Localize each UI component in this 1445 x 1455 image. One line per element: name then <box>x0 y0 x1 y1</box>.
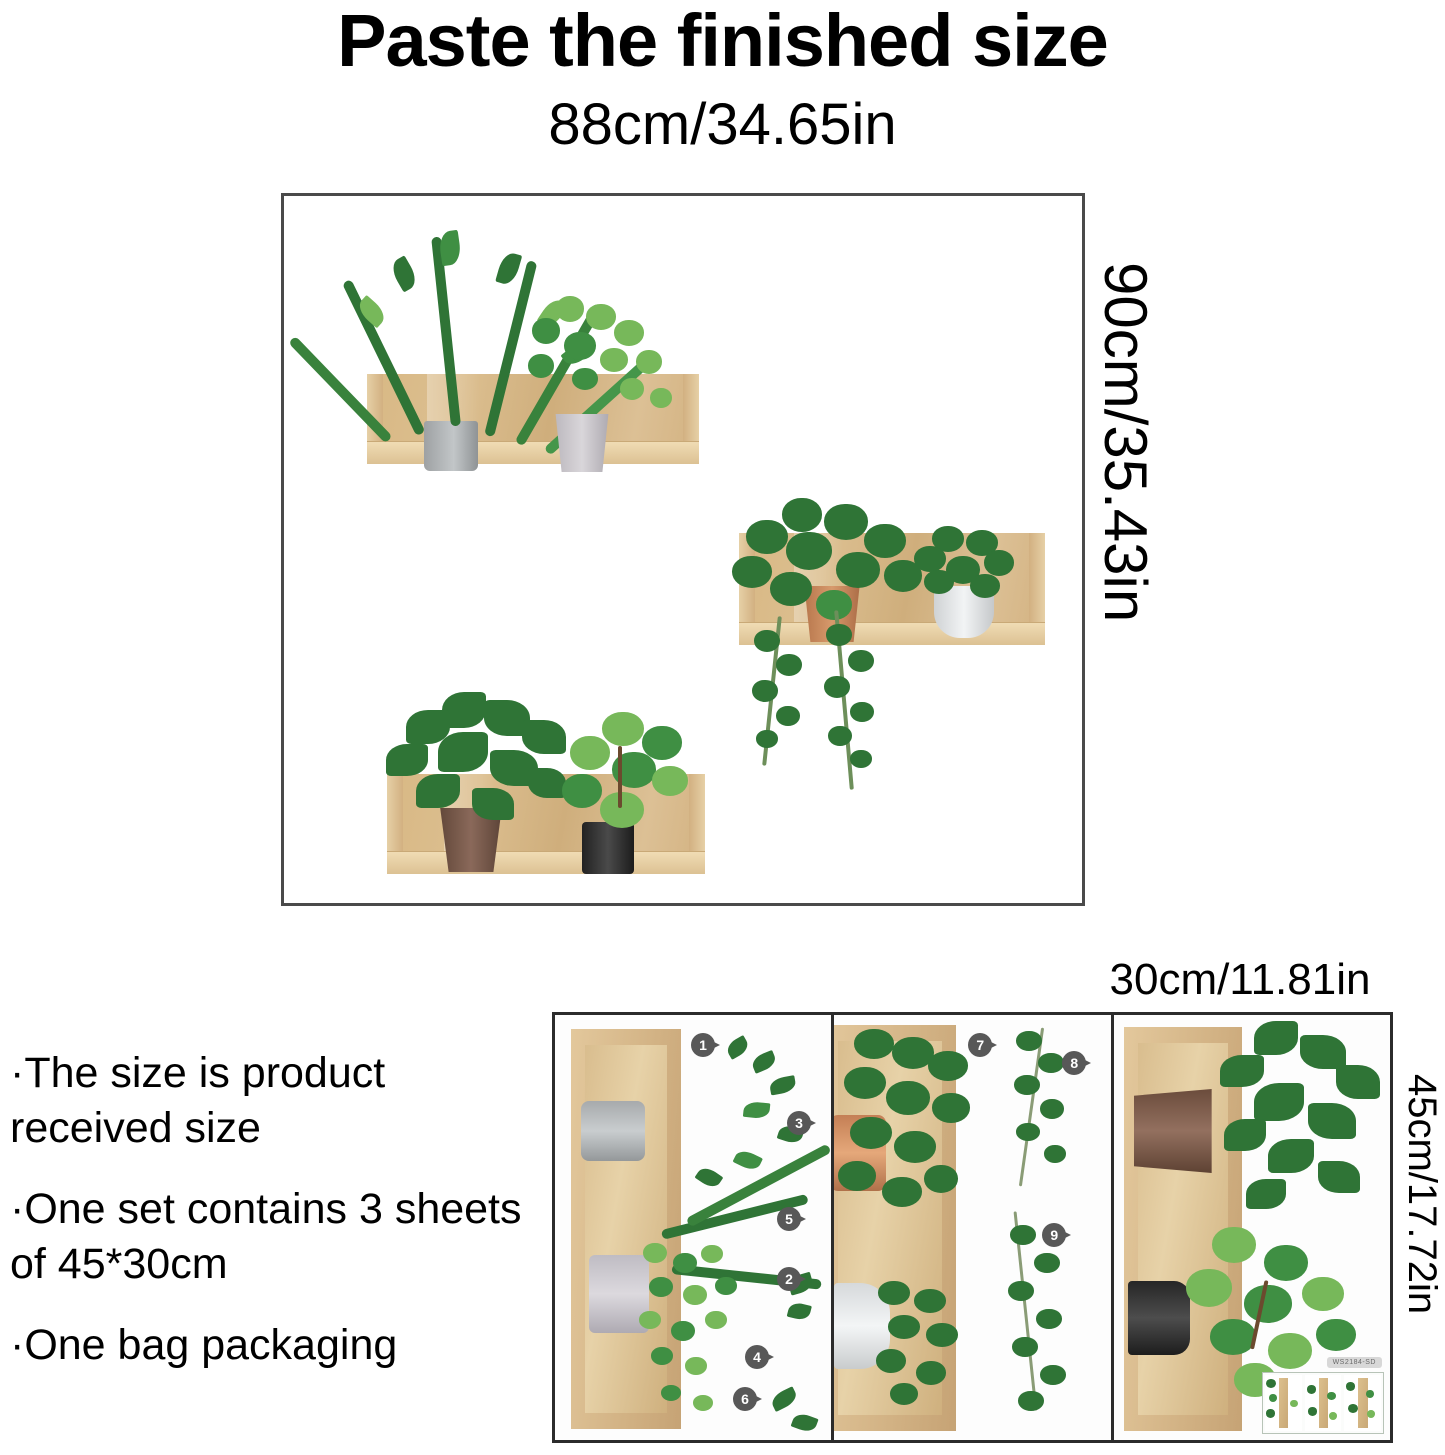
finished-width-label: 88cm/34.65in <box>0 96 1445 154</box>
marker-number: 3 <box>787 1111 811 1135</box>
marker-number: 1 <box>691 1033 715 1057</box>
shelf-front-edge <box>387 851 705 874</box>
thumbnail-3 <box>1344 1375 1381 1431</box>
sheet-height-label: 45cm/17.72in <box>1400 1074 1444 1420</box>
shelf-front-edge <box>367 441 699 464</box>
marker-number: 4 <box>745 1345 769 1369</box>
marker-7: 7 <box>968 1033 994 1059</box>
loose-leaf <box>787 1301 812 1322</box>
loose-leaf <box>791 1411 819 1434</box>
pothos-plant-decal <box>834 1025 994 1255</box>
marker-2: 2 <box>777 1267 803 1293</box>
thumbnail-1 <box>1265 1375 1302 1431</box>
philodendron-plant <box>556 712 688 834</box>
marker-5: 5 <box>777 1207 803 1233</box>
marker-number: 8 <box>1062 1051 1086 1075</box>
marker-number: 6 <box>733 1387 757 1411</box>
marker-1: 1 <box>691 1033 717 1059</box>
thumbnail-shelf <box>1279 1378 1289 1427</box>
thumbnail-strip <box>1262 1372 1384 1434</box>
thumbnail-shelf <box>1319 1378 1329 1427</box>
main-preview-box <box>281 193 1085 906</box>
monstera-plant <box>380 692 580 832</box>
pothos-trailing-plant <box>724 498 934 808</box>
marker-number: 5 <box>777 1207 801 1231</box>
product-notes: ·The size is product received size ·One … <box>10 1046 530 1399</box>
note-item: ·The size is product received size <box>10 1046 530 1156</box>
note-item: ·One bag packaging <box>10 1318 530 1373</box>
sheet-1: 1 3 5 2 4 6 <box>555 1015 831 1440</box>
finished-height-label: 90cm/35.43in <box>1092 262 1158 822</box>
marker-6: 6 <box>733 1387 759 1413</box>
marker-3: 3 <box>787 1111 813 1137</box>
sheet-width-label: 30cm/11.81in <box>1040 958 1440 1002</box>
page-title: Paste the finished size <box>0 4 1445 78</box>
sheet-2: 7 8 9 <box>831 1015 1110 1440</box>
thumbnail-2 <box>1305 1375 1342 1431</box>
sku-code: WS2184-SD <box>1327 1357 1382 1368</box>
decal-sheets-panel: 1 3 5 2 4 6 <box>552 1012 1393 1443</box>
gray-cylinder-pot <box>581 1101 645 1161</box>
marker-number: 9 <box>1042 1223 1066 1247</box>
marker-number: 7 <box>968 1033 992 1057</box>
peperomia-plant <box>912 526 1020 604</box>
monstera-plant-decal <box>1210 1021 1390 1241</box>
peperomia-plant-decal <box>872 1277 984 1417</box>
brown-textured-pot <box>1134 1089 1212 1173</box>
marker-number: 2 <box>777 1267 801 1291</box>
marker-9: 9 <box>1042 1223 1068 1249</box>
loose-leaf <box>769 1386 799 1412</box>
ivy-plant <box>510 292 678 422</box>
note-item: ·One set contains 3 sheets of 45*30cm <box>10 1182 530 1292</box>
thumbnail-shelf <box>1358 1378 1368 1427</box>
marker-8: 8 <box>1062 1051 1088 1077</box>
light-gray-tapered-pot <box>552 414 612 472</box>
marker-4: 4 <box>745 1345 771 1371</box>
sheet-3: WS2184-SD <box>1111 1015 1390 1440</box>
